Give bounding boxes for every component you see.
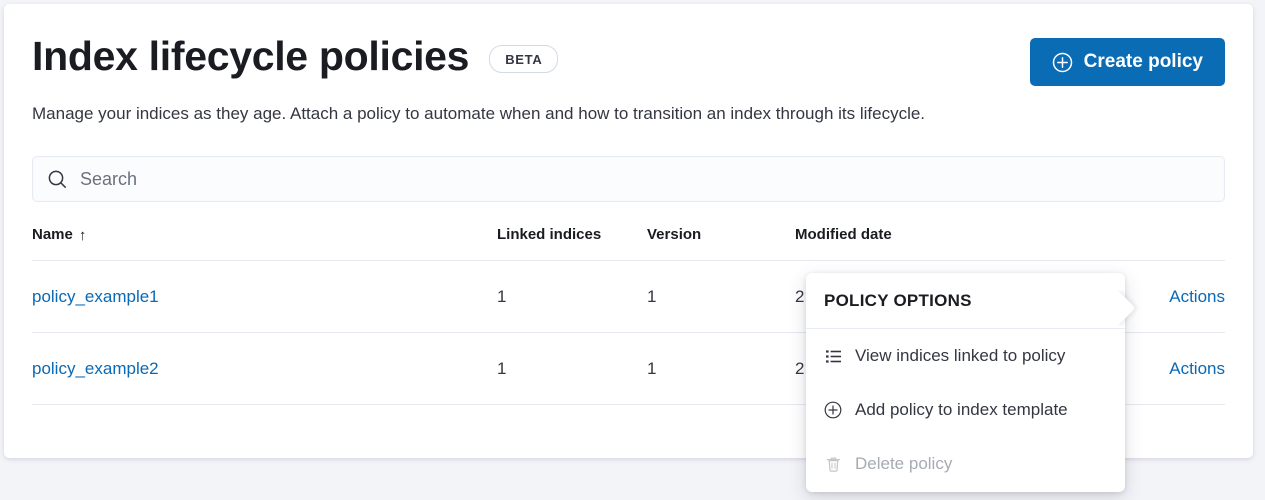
- popover-arrow: [1118, 290, 1140, 326]
- policy-options-popover: POLICY OPTIONS View indices linked to po…: [806, 273, 1125, 492]
- menu-item-delete-policy-label: Delete policy: [855, 454, 952, 474]
- popover-title: POLICY OPTIONS: [824, 291, 972, 311]
- table-head: Name↑ Linked indices Version Modified da…: [32, 226, 1225, 261]
- cell-name: policy_example2: [32, 333, 497, 405]
- column-header-actions: [1140, 226, 1225, 261]
- cell-name: policy_example1: [32, 261, 497, 333]
- row-actions-button[interactable]: Actions: [1169, 359, 1225, 378]
- menu-item-add-policy-to-index-template[interactable]: Add policy to index template: [806, 383, 1125, 437]
- page-title: Index lifecycle policies: [32, 32, 469, 80]
- policy-name-link[interactable]: policy_example1: [32, 287, 159, 306]
- trash-icon: [824, 455, 842, 473]
- menu-item-add-policy-label: Add policy to index template: [855, 400, 1068, 420]
- policy-name-link[interactable]: policy_example2: [32, 359, 159, 378]
- column-header-modified-date[interactable]: Modified date: [795, 226, 1140, 261]
- menu-item-view-indices[interactable]: View indices linked to policy: [806, 329, 1125, 383]
- column-header-linked-indices[interactable]: Linked indices: [497, 226, 647, 261]
- page-header: Index lifecycle policies BETA Create pol…: [32, 32, 1225, 94]
- beta-badge: BETA: [489, 45, 558, 73]
- cell-actions: Actions: [1140, 333, 1225, 405]
- plus-circle-icon: [824, 401, 842, 419]
- column-header-name[interactable]: Name↑: [32, 226, 497, 261]
- cell-actions: Actions: [1140, 261, 1225, 333]
- plus-circle-icon: [1052, 52, 1073, 73]
- table-header-row: Name↑ Linked indices Version Modified da…: [32, 226, 1225, 261]
- menu-item-view-indices-label: View indices linked to policy: [855, 346, 1065, 366]
- cell-version: 1: [647, 261, 795, 333]
- cell-version: 1: [647, 333, 795, 405]
- cell-linked-indices: 1: [497, 261, 647, 333]
- row-actions-button[interactable]: Actions: [1169, 287, 1225, 306]
- column-header-name-label: Name: [32, 226, 73, 243]
- sort-ascending-icon: ↑: [79, 227, 87, 244]
- search-input[interactable]: [80, 157, 1224, 201]
- menu-item-delete-policy: Delete policy: [806, 437, 1125, 491]
- create-policy-button[interactable]: Create policy: [1030, 38, 1225, 86]
- page-description: Manage your indices as they age. Attach …: [32, 101, 925, 126]
- page-root: Index lifecycle policies BETA Create pol…: [0, 0, 1265, 500]
- title-group: Index lifecycle policies BETA: [32, 32, 558, 80]
- search-icon: [47, 169, 68, 190]
- create-policy-label: Create policy: [1084, 51, 1203, 73]
- popover-menu: View indices linked to policy Add policy…: [806, 329, 1125, 491]
- search-bar[interactable]: [32, 156, 1225, 202]
- list-icon: [824, 347, 842, 365]
- cell-linked-indices: 1: [497, 333, 647, 405]
- column-header-version[interactable]: Version: [647, 226, 795, 261]
